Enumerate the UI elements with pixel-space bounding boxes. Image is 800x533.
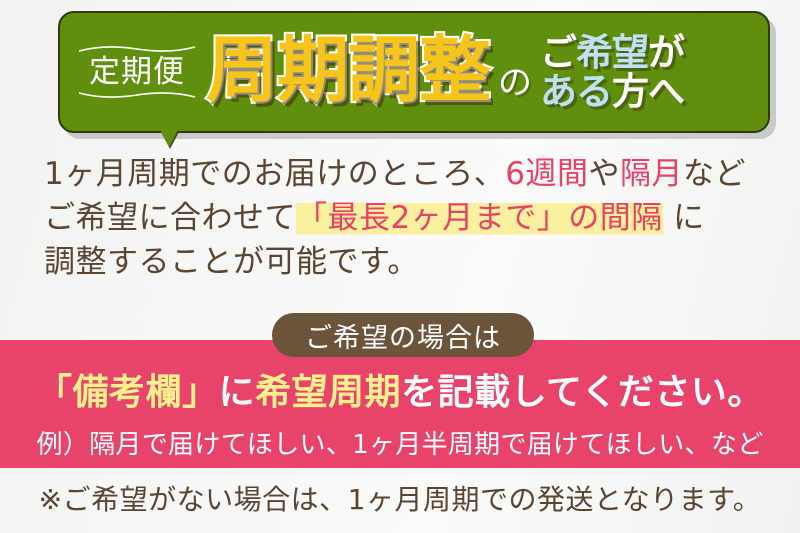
body-l1-seg5: など xyxy=(683,156,746,192)
body-l2-seg1: ご希望に合わせて xyxy=(44,200,296,236)
audience-line1-seg1: ご xyxy=(540,31,576,74)
body-l2-highlight: 「最長2ヶ月まで」の間隔 xyxy=(296,200,663,236)
instruction-seg3: 希望周期 xyxy=(255,372,401,413)
audience-callout-line2: ある方へ xyxy=(540,73,684,112)
body-line-3: 調整することが可能です。 xyxy=(44,240,774,284)
body-line-2: ご希望に合わせて「最長2ヶ月まで」の間隔 に xyxy=(44,196,774,240)
wave-rule-bottom-icon xyxy=(78,91,196,99)
audience-line2-seg1: ある xyxy=(540,70,612,113)
subscription-label: 定期便 xyxy=(87,53,187,92)
instruction-seg1: 「備考欄」 xyxy=(36,372,219,413)
audience-line1-seg3: が xyxy=(648,31,684,74)
title-particle: の xyxy=(498,55,532,104)
wave-rule-top-icon xyxy=(78,45,196,53)
body-line-1: 1ヶ月周期でのお届けのところ、6週間や隔月など xyxy=(44,152,774,196)
body-l1-seg2: 6週間 xyxy=(505,156,588,192)
status-badge: ご希望の場合は xyxy=(272,313,534,357)
audience-callout-line1: ご希望が xyxy=(540,34,684,73)
audience-line2-seg2: 方へ xyxy=(612,70,684,113)
page-title: 周期調整 xyxy=(206,34,490,106)
subscription-label-group: 定期便 xyxy=(78,45,196,100)
body-l1-seg3: や xyxy=(588,156,620,192)
promo-headline-bubble: 定期便 周期調整 の ご希望が ある方へ xyxy=(58,11,770,133)
body-paragraph: 1ヶ月周期でのお届けのところ、6週間や隔月など ご希望に合わせて「最長2ヶ月まで… xyxy=(44,152,774,284)
audience-callout: ご希望が ある方へ xyxy=(540,34,684,112)
body-l3-seg1: 調整することが可能です。 xyxy=(44,244,419,280)
footnote: ※ご希望がない場合は、1ヶ月周期での発送となります。 xyxy=(0,478,800,518)
bubble-tail-icon xyxy=(160,130,178,147)
body-l1-seg4: 隔月 xyxy=(620,156,683,192)
instruction-example: 例）隔月で届けてほしい、1ヶ月半周期で届けてほしい、など xyxy=(0,424,800,461)
audience-line1-seg2: 希望 xyxy=(576,31,648,74)
instruction-seg2: に xyxy=(219,372,256,413)
instruction-headline: 「備考欄」に希望周期を記載してください。 xyxy=(0,363,800,415)
body-l1-seg1: 1ヶ月周期でのお届けのところ、 xyxy=(44,156,505,192)
body-l2-seg3: に xyxy=(663,200,705,236)
instruction-seg4: を記載してください。 xyxy=(401,372,764,413)
